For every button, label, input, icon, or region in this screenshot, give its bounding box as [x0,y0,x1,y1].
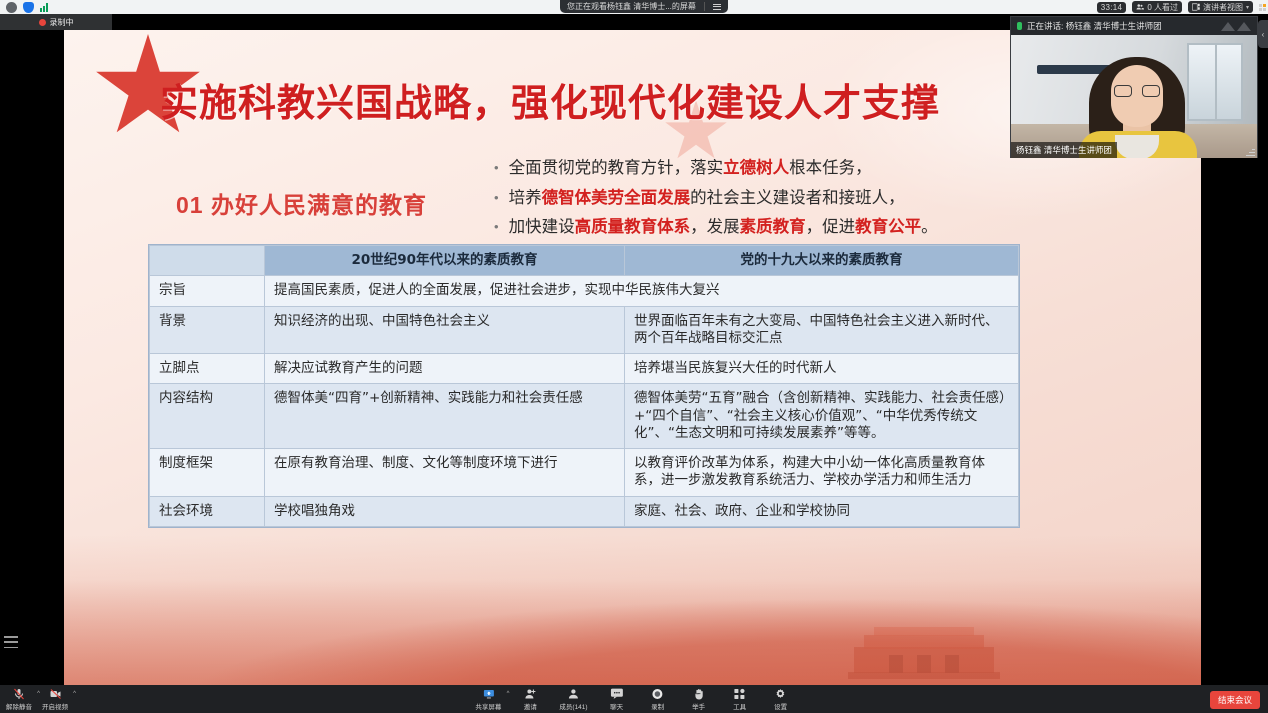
bullet-highlight: 立德树人 [723,159,789,177]
participants-icon [568,688,580,700]
table-cell: 知识经济的出现、中国特色社会主义 [265,306,625,354]
thumbnail-title-bar: 正在讲话: 杨钰鑫 清华博士生讲师团 [1011,17,1257,35]
speaking-label: 正在讲话: 杨钰鑫 清华博士生讲师团 [1027,20,1162,32]
slide-skyline-decoration [64,580,1201,685]
shield-icon[interactable] [23,2,34,13]
slide-title: 实施科教兴国战略，强化现代化建设人才支撑 [160,72,940,127]
chat-icon [610,688,623,700]
signal-icon[interactable] [40,3,48,12]
slide-bullet-text: 加快建设高质量教育体系，发展素质教育，促进教育公平。 [509,217,938,238]
invite-icon [524,688,536,700]
person-collar [1115,135,1159,158]
table-body: 宗旨提高国民素质，促进人的全面发展，促进社会进步，实现中华民族伟大复兴背景知识经… [150,276,1019,527]
divider [704,2,705,11]
table-row: 内容结构德智体美“四育”+创新精神、实践能力和社会责任感德智体美劳“五育”融合（… [150,384,1019,449]
speaker-view-icon [1192,3,1200,11]
raise-hand-icon [693,688,704,700]
table-cell: 解决应试教育产生的问题 [265,354,625,384]
slide-bullet-text: 培养德智体美劳全面发展的社会主义建设者和接班人， [509,188,905,209]
table-row: 制度框架在原有教育治理、制度、文化等制度环境下进行以教育评价改革为体系，构建大中… [150,449,1019,497]
table-column-header [150,246,265,276]
toolbar-item-label: 成员(141) [559,701,587,711]
table-row-header: 内容结构 [150,384,265,449]
table-header-row: 20世纪90年代以来的素质教育党的十九大以来的素质教育 [150,246,1019,276]
profile-icon[interactable] [6,2,17,13]
slide-section-number: 01 办好人民满意的教育 [176,186,427,220]
recording-dot-icon [39,19,46,26]
bullet-highlight: 教育公平 [855,218,921,236]
table-row: 立脚点解决应试教育产生的问题培养堪当民族复兴大任的时代新人 [150,354,1019,384]
bullet-plain: 根本任务， [789,159,872,177]
table-row: 社会环境学校唱独角戏家庭、社会、政府、企业和学校协同 [150,496,1019,526]
toolbar-tools-button[interactable]: 工具 [728,688,752,711]
table-cell: 德智体美劳“五育”融合（含创新精神、实践能力、社会责任感）+“四个自信”、“社会… [625,384,1019,449]
bullet-dot-icon: • [494,158,499,178]
viewers-chip[interactable]: 0 人看过 [1132,1,1182,13]
recording-indicator: 录制中 [0,14,112,30]
table-cell: 世界面临百年未有之大变局、中国特色社会主义进入新时代、两个百年战略目标交汇点 [625,306,1019,354]
table-header: 20世纪90年代以来的素质教育党的十九大以来的素质教育 [150,246,1019,276]
toolbar-participants-button[interactable]: 成员(141) [559,688,587,711]
camera-off-icon [49,688,62,700]
table-row-header: 制度框架 [150,449,265,497]
meeting-bottom-toolbar: 解除静音^开启视频^ 共享屏幕^邀请成员(141)聊天录制举手工具设置 结束会议 [0,685,1268,713]
toolbar-item-label: 解除静音 [6,701,32,711]
table-row-header: 宗旨 [150,276,265,306]
slide-bullet-list: •全面贯彻党的教育方针，落实立德树人根本任务，•培养德智体美劳全面发展的社会主义… [494,158,1094,247]
table-row-header: 背景 [150,306,265,354]
bullet-highlight: 高质量教育体系 [575,218,691,236]
toolbar-item-label: 聊天 [610,701,623,711]
mic-muted-icon [13,688,25,700]
table-cell: 以教育评价改革为体系，构建大中小幼一体化高质量教育体系，进一步激发教育系统活力、… [625,449,1019,497]
slide-bullet: •加快建设高质量教育体系，发展素质教育，促进教育公平。 [494,217,1094,238]
video-window-decor [1187,43,1243,121]
table-row-header: 社会环境 [150,496,265,526]
thumbnail-video-feed: 杨钰鑫 清华博士生讲师团 [1011,35,1257,158]
toolbar-invite-button[interactable]: 邀请 [518,688,542,711]
toolbar-left-group: 解除静音^开启视频^ [0,688,68,711]
table-cell: 在原有教育治理、制度、文化等制度环境下进行 [265,449,625,497]
share-screen-icon [482,688,495,700]
chevron-down-icon[interactable]: ▾ [1246,4,1249,11]
participant-name-label: 杨钰鑫 清华博士生讲师团 [1011,142,1117,158]
toolbar-item-label: 邀请 [524,701,537,711]
table-cell: 学校唱独角戏 [265,496,625,526]
layout-grid-icon[interactable] [1259,4,1266,11]
toolbar-share-screen-button[interactable]: 共享屏幕^ [475,688,501,711]
table-row: 宗旨提高国民素质，促进人的全面发展，促进社会进步，实现中华民族伟大复兴 [150,276,1019,306]
toolbar-chat-button[interactable]: 聊天 [605,688,629,711]
bullet-highlight: 德智体美劳全面发展 [542,189,691,207]
toolbar-item-label: 共享屏幕 [475,701,501,711]
tools-icon [734,688,746,700]
bullet-dot-icon: • [494,188,499,208]
bullet-plain: 全面贯彻党的教育方针，落实 [509,159,724,177]
mic-on-icon [1017,22,1022,30]
bullet-highlight: 素质教育 [740,218,806,236]
viewing-screen-notice[interactable]: 您正在观看杨钰鑫 清华博士...的屏幕 [560,0,728,13]
panel-toggle-icon[interactable] [4,636,18,648]
table-row-header: 立脚点 [150,354,265,384]
toolbar-settings-gear-button[interactable]: 设置 [769,688,793,711]
hamburger-icon[interactable] [713,4,721,10]
slide-bullet: •全面贯彻党的教育方针，落实立德树人根本任务， [494,158,1094,179]
table-cell: 培养堪当民族复兴大任的时代新人 [625,354,1019,384]
bullet-plain: 培养 [509,189,542,207]
speaker-video-thumbnail[interactable]: 正在讲话: 杨钰鑫 清华博士生讲师团 杨钰鑫 清华博士生讲师团 [1010,16,1258,158]
audio-wave-icon [1221,22,1251,31]
chevron-up-icon[interactable]: ^ [37,691,40,697]
bullet-plain: 的社会主义建设者和接班人， [690,189,905,207]
toolbar-camera-off-button[interactable]: 开启视频^ [42,688,68,711]
layout-label: 演讲者视图 [1203,2,1243,13]
glasses-icon [1114,85,1160,97]
viewers-label: 0 人看过 [1147,2,1178,13]
toolbar-record-button[interactable]: 录制 [646,688,670,711]
table-cell: 家庭、社会、政府、企业和学校协同 [625,496,1019,526]
layout-selector[interactable]: 演讲者视图 ▾ [1188,1,1253,13]
slide-bullet: •培养德智体美劳全面发展的社会主义建设者和接班人， [494,188,1094,209]
record-icon [652,688,664,700]
viewing-notice-label: 您正在观看杨钰鑫 清华博士...的屏幕 [567,1,696,12]
table-row: 背景知识经济的出现、中国特色社会主义世界面临百年未有之大变局、中国特色社会主义进… [150,306,1019,354]
toolbar-center-group: 共享屏幕^邀请成员(141)聊天录制举手工具设置 [475,688,792,711]
slide-bullet-text: 全面贯彻党的教育方针，落实立德树人根本任务， [509,158,872,179]
toolbar-right-group: 结束会议 [1210,690,1260,709]
comparison-table: 20世纪90年代以来的素质教育党的十九大以来的素质教育 宗旨提高国民素质，促进人… [149,245,1019,527]
recording-label: 录制中 [50,17,74,28]
toolbar-item-label: 录制 [651,701,664,711]
end-meeting-button[interactable]: 结束会议 [1210,691,1260,709]
bullet-plain: 。 [921,218,938,236]
collapse-rail-icon[interactable]: ‹ [1258,20,1268,48]
meeting-top-right-controls: 33:14 0 人看过 演讲者视图 ▾ [1097,0,1266,14]
tiananmen-gate-decoration-icon [834,617,1014,679]
table-column-header: 党的十九大以来的素质教育 [625,246,1019,276]
chevron-up-icon[interactable]: ^ [73,691,76,697]
bullet-plain: 加快建设 [509,218,575,236]
bullet-plain: ，促进 [806,218,856,236]
resize-grip-icon[interactable] [1246,147,1255,156]
people-icon [1136,3,1144,11]
bullet-plain: ，发展 [690,218,740,236]
chevron-up-icon[interactable]: ^ [507,691,510,697]
toolbar-mic-muted-button[interactable]: 解除静音^ [6,688,32,711]
table-cell: 德智体美“四育”+创新精神、实践能力和社会责任感 [265,384,625,449]
toolbar-item-label: 设置 [774,701,787,711]
settings-gear-icon [775,688,787,700]
table-column-header: 20世纪90年代以来的素质教育 [265,246,625,276]
bullet-dot-icon: • [494,217,499,237]
table-cell: 提高国民素质，促进人的全面发展，促进社会进步，实现中华民族伟大复兴 [265,276,1019,306]
toolbar-item-label: 工具 [733,701,746,711]
meeting-timer: 33:14 [1097,2,1127,13]
toolbar-item-label: 开启视频 [42,701,68,711]
toolbar-item-label: 举手 [692,701,705,711]
toolbar-raise-hand-button[interactable]: 举手 [687,688,711,711]
